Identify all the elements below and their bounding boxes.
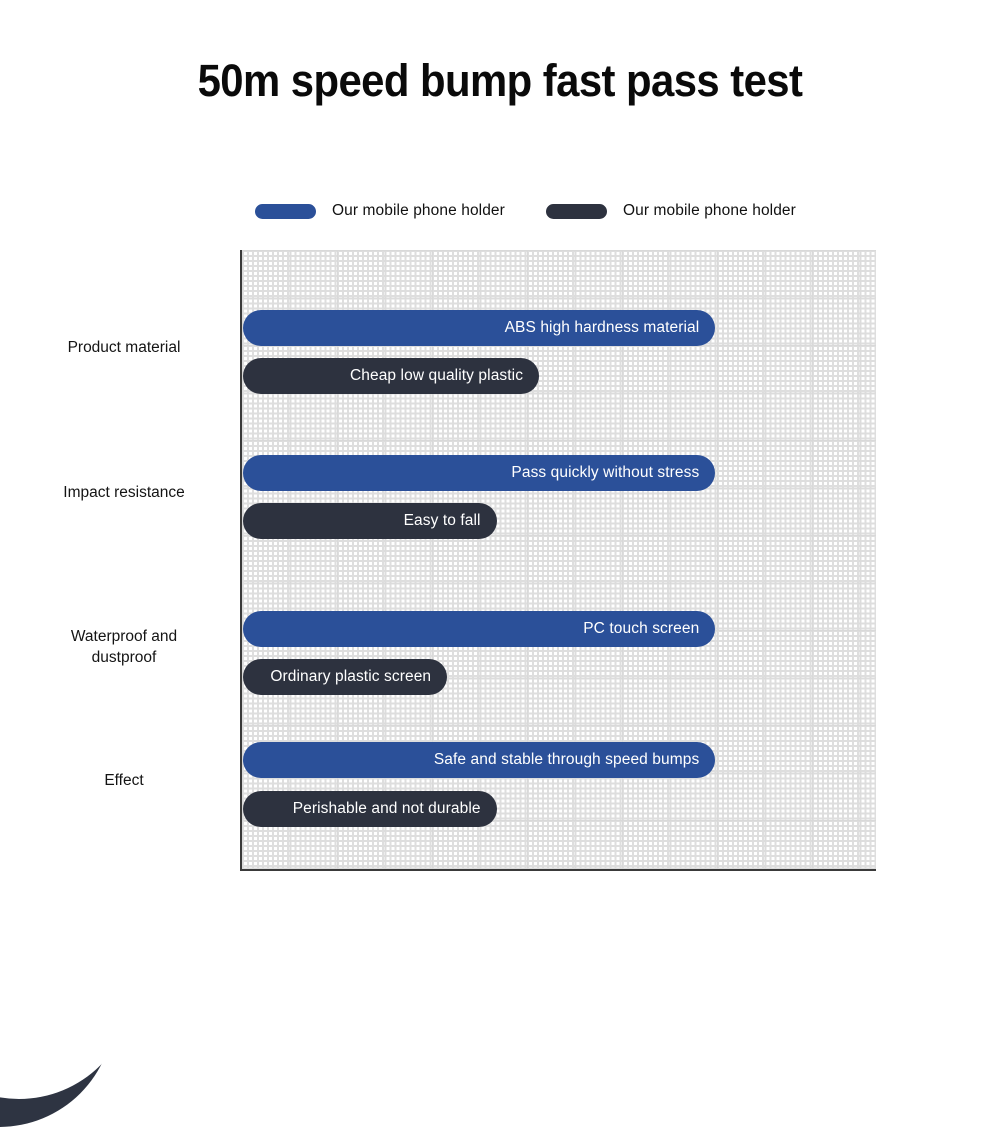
bar-dark-0[interactable]: Cheap low quality plastic [243, 358, 539, 394]
chart-legend: Our mobile phone holder Our mobile phone… [255, 198, 855, 226]
chart-title: 50m speed bump fast pass test [35, 55, 965, 107]
bar-label: Cheap low quality plastic [350, 367, 523, 385]
y-axis-label-3: Effect [24, 771, 224, 792]
bar-dark-3[interactable]: Perishable and not durable [243, 791, 497, 827]
y-axis-label-line-1: Product material [24, 338, 224, 359]
legend-swatch-dark [546, 204, 607, 219]
y-axis-label-line-1: Impact resistance [24, 483, 224, 504]
y-axis-label-line-1: Waterproof and [24, 627, 224, 648]
bar-blue-3[interactable]: Safe and stable through speed bumps [243, 742, 715, 778]
bar-label: Pass quickly without stress [511, 464, 699, 482]
bar-label: PC touch screen [583, 620, 699, 638]
bar-dark-1[interactable]: Easy to fall [243, 503, 497, 539]
y-axis-label-2: Waterproof anddustproof [24, 627, 224, 669]
legend-swatch-blue [255, 204, 316, 219]
y-axis-label-0: Product material [24, 338, 224, 359]
bar-label: Perishable and not durable [293, 800, 481, 818]
bar-blue-2[interactable]: PC touch screen [243, 611, 715, 647]
y-axis-label-line-2: dustproof [24, 648, 224, 669]
legend-label-dark: Our mobile phone holder [623, 202, 796, 220]
bar-label: Safe and stable through speed bumps [434, 751, 699, 769]
legend-item-our-mobile-phone-holder-dark[interactable]: Our mobile phone holder [546, 198, 796, 224]
legend-label-blue: Our mobile phone holder [332, 202, 505, 220]
bar-blue-1[interactable]: Pass quickly without stress [243, 455, 715, 491]
y-axis-label-line-1: Effect [24, 771, 224, 792]
bar-dark-2[interactable]: Ordinary plastic screen [243, 659, 447, 695]
chart-container: 50m speed bump fast pass test Our mobile… [0, 0, 1000, 1007]
bar-blue-0[interactable]: ABS high hardness material [243, 310, 715, 346]
y-axis-category-labels: Product materialImpact resistanceWaterpr… [24, 250, 224, 871]
bar-label: Easy to fall [404, 512, 481, 530]
plot-area: ABS high hardness materialCheap low qual… [240, 250, 876, 871]
bar-label: ABS high hardness material [505, 319, 700, 337]
y-axis-label-1: Impact resistance [24, 483, 224, 504]
bar-label: Ordinary plastic screen [270, 668, 431, 686]
legend-item-our-mobile-phone-holder-blue[interactable]: Our mobile phone holder [255, 198, 505, 224]
